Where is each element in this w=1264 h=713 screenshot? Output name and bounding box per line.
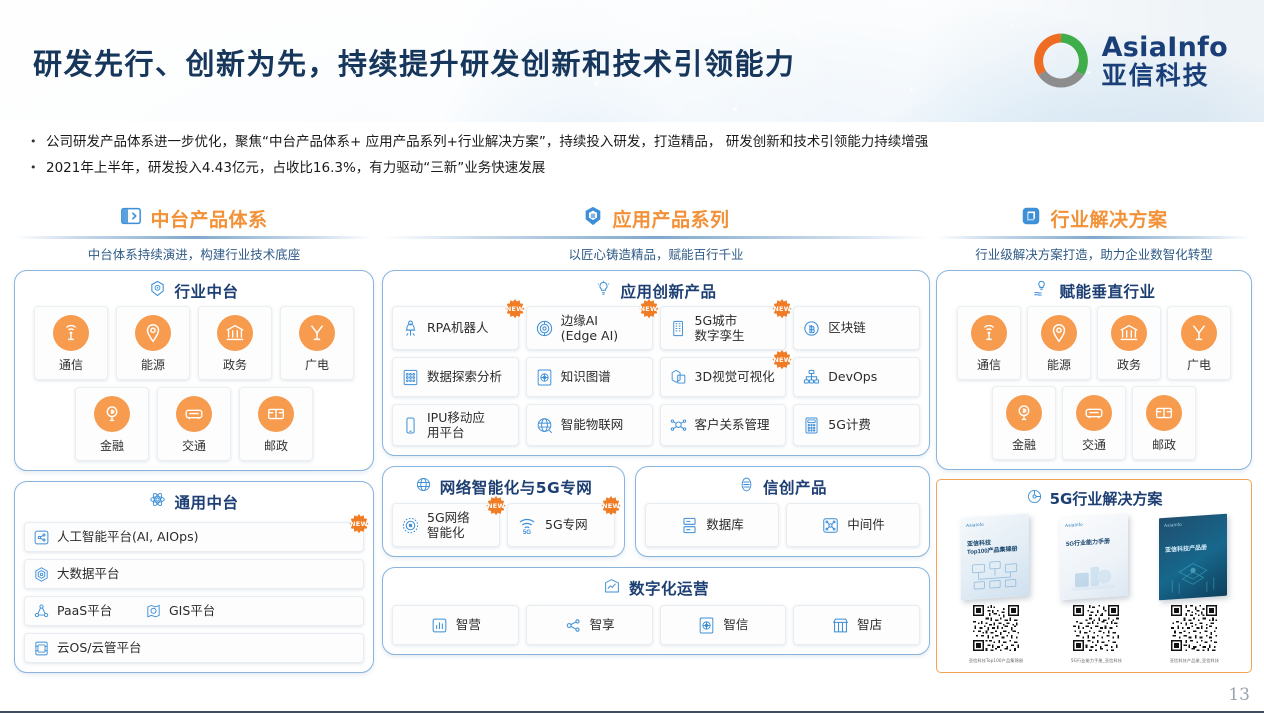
brochure-thumbnail: AsiaInfo 亚信科技 Top100产品集锦册	[961, 514, 1029, 601]
product-label: 中间件	[847, 517, 885, 532]
money-icon	[1006, 395, 1042, 431]
panel-digital-operations: 数字化运营 智营 智享 智信 智店	[382, 567, 930, 655]
platform-label: 云OS/云管平台	[57, 640, 142, 655]
product-tile[interactable]: 3D视觉可视化 NEW	[660, 357, 787, 397]
panel-header: 5G行业解决方案	[945, 486, 1243, 510]
product-tile[interactable]: 智信	[660, 605, 787, 645]
industry-row-1: 通信 能源 政务 广电	[24, 306, 364, 380]
new-badge: NEW	[600, 496, 622, 518]
industry-label: 政务	[199, 356, 271, 373]
product-tile[interactable]: DevOps	[793, 357, 920, 397]
new-badge: NEW	[638, 299, 660, 321]
product-tile[interactable]: IPU移动应 用平台	[392, 404, 519, 446]
panel-title-text: 通用中台	[174, 491, 238, 513]
industry-label: 交通	[158, 437, 230, 454]
product-label: 智享	[590, 617, 615, 632]
product-label: 客户关系管理	[695, 417, 770, 432]
mobile-icon	[401, 416, 420, 435]
bitcoin-icon	[802, 319, 821, 338]
car-icon	[176, 396, 212, 432]
product-tile[interactable]: 区块链	[793, 306, 920, 350]
bullet-item: • 公司研发产品体系进一步优化，聚焦“中台产品体系+ 应用产品系列+行业解决方案…	[30, 134, 1245, 151]
wifi-5g-icon: 5G	[516, 515, 538, 535]
new-badge-text: NEW	[487, 503, 505, 511]
column-middle-platform: 中台产品体系 中台体系持续演进，构建行业技术底座 行业中台 通信 能源 政务	[14, 204, 374, 673]
building-icon	[669, 319, 688, 338]
product-label: IPU移动应 用平台	[427, 410, 485, 441]
brochure-brand: AsiaInfo	[966, 522, 984, 528]
product-label: 3D视觉可视化	[695, 369, 775, 384]
product-tile[interactable]: 数据库	[645, 503, 779, 547]
column-title: 应用产品系列	[612, 205, 729, 232]
industry-tile[interactable]: 通信	[957, 306, 1021, 380]
mailbox-icon	[258, 396, 294, 432]
layers-square-icon	[1020, 205, 1042, 232]
industry-tile[interactable]: 广电	[1167, 306, 1231, 380]
platform-label: 人工智能平台(AI, AIOps)	[57, 529, 198, 544]
panel-header: 信创产品	[645, 474, 920, 500]
product-label: 边缘AI (Edge AI)	[561, 313, 618, 344]
qr-code-icon	[1073, 605, 1119, 651]
edge-ai-icon	[535, 319, 554, 338]
panel-title-text: 数字化运营	[629, 577, 709, 599]
broadcast-icon	[1181, 315, 1217, 351]
platform-label: PaaS平台	[57, 603, 145, 618]
industry-label: 交通	[1063, 436, 1125, 453]
product-tile[interactable]: 5G 5G专网 NEW	[507, 503, 615, 547]
industry-tile[interactable]: 通信	[34, 306, 108, 380]
bullet-list: • 公司研发产品体系进一步优化，聚焦“中台产品体系+ 应用产品系列+行业解决方案…	[30, 134, 1245, 186]
new-badge-text: NEW	[350, 521, 368, 529]
platform-label: 大数据平台	[57, 566, 120, 581]
brochure-title: 亚信科技 Top100产品集锦册	[967, 538, 1023, 558]
broadcast-icon	[299, 315, 335, 351]
industry-label: 广电	[1168, 356, 1230, 373]
column-subtitle: 中台体系持续演进，构建行业技术底座	[14, 244, 374, 263]
5g-disc-icon	[1026, 488, 1043, 509]
bank-icon	[1111, 315, 1147, 351]
car-icon	[1076, 395, 1112, 431]
panel-title-text: 信创产品	[763, 476, 827, 498]
brochure-brand: AsiaInfo	[1164, 522, 1182, 528]
column-title: 中台产品体系	[150, 205, 267, 232]
page-number: 13	[1228, 685, 1250, 705]
industry-tile[interactable]: 能源	[1027, 306, 1091, 380]
industry-tile[interactable]: 能源	[116, 306, 190, 380]
globe-iot-icon	[535, 416, 554, 435]
qr-cell: 亚信科技产品册_亚信科技	[1170, 605, 1219, 664]
column-subtitle: 以匠心铸造精品，赋能百行千业	[382, 244, 930, 263]
brochure-thumbnail: AsiaInfo 5G行业能力手册	[1060, 514, 1128, 601]
bullet-text: 2021年上半年，研发投入4.43亿元，占收比16.3%，有力驱动“三新”业务快…	[46, 160, 545, 177]
industry-label: 金融	[993, 436, 1055, 453]
innovation-grid: RPA机器人 NEW 边缘AI (Edge AI) NEW 5G城市 数字孪生 …	[392, 306, 920, 446]
product-tile[interactable]: 5G网络 智能化 NEW	[392, 503, 500, 547]
share-nodes-icon	[564, 616, 583, 635]
column-header: 中台产品体系	[14, 204, 374, 232]
hexagon-layers-icon	[33, 566, 50, 583]
store-icon	[831, 616, 850, 635]
calculator-icon	[802, 416, 821, 435]
lightbulb-icon	[595, 280, 612, 302]
robot-icon	[401, 319, 420, 338]
bullet-text: 公司研发产品体系进一步优化，聚焦“中台产品体系+ 应用产品系列+行业解决方案”，…	[46, 134, 928, 151]
product-label: 智信	[723, 617, 748, 632]
platform-tile-paas-gis[interactable]: PaaS平台 GIS平台	[24, 596, 364, 626]
industry-tile[interactable]: 金融	[992, 386, 1056, 460]
industry-label: 邮政	[240, 437, 312, 454]
panel-title-text: 赋能垂直行业	[1059, 280, 1155, 302]
brochure-row: AsiaInfo 亚信科技 Top100产品集锦册 AsiaInfo 5G行业能…	[945, 514, 1243, 598]
product-label: 5G专网	[545, 517, 588, 532]
globe-grid-icon	[415, 476, 432, 498]
new-badge: NEW	[504, 299, 526, 321]
share-nodes-icon	[33, 529, 50, 546]
industry-tile[interactable]: 交通	[157, 387, 231, 461]
product-label: 智营	[456, 617, 481, 632]
panel-general-platform: 通用中台 人工智能平台(AI, AIOps) NEW 大数据平台 PaaS平台 …	[14, 481, 374, 673]
map-globe-icon	[145, 603, 162, 620]
hierarchy-icon	[802, 368, 821, 387]
panel-title-text: 5G行业解决方案	[1050, 488, 1163, 509]
product-tile[interactable]: 智享	[526, 605, 653, 645]
qr-cell: 亚信科技Top100产品集锦册	[969, 605, 1023, 664]
product-tile[interactable]: 知识图谱	[526, 357, 653, 397]
industry-row-1: 通信 能源 政务 广电	[946, 306, 1242, 380]
industry-label: 政务	[1098, 356, 1160, 373]
svg-text:5G: 5G	[523, 529, 531, 535]
product-tile[interactable]: 5G城市 数字孪生 NEW	[660, 306, 787, 350]
qr-caption: 亚信科技Top100产品集锦册	[969, 658, 1023, 664]
panel-xinchuang: 信创产品 数据库 中间件	[635, 466, 930, 557]
bank-icon	[217, 315, 253, 351]
new-badge-text: NEW	[506, 306, 524, 314]
chart-trend-icon	[603, 577, 621, 600]
bar-chart-icon	[430, 616, 449, 635]
product-label: 智店	[857, 617, 882, 632]
knowledge-graph-icon	[535, 368, 554, 387]
industry-label: 金融	[76, 437, 148, 454]
panel-network-5g: 网络智能化与5G专网 5G网络 智能化 NEW 5G 5G专网 NEW	[382, 466, 625, 557]
header-divider	[14, 236, 374, 239]
product-tile[interactable]: 边缘AI (Edge AI) NEW	[526, 306, 653, 350]
cube-network-icon	[33, 603, 50, 620]
product-label: 数据探索分析	[427, 369, 502, 384]
crm-network-icon	[669, 416, 688, 435]
panel-header: 行业中台	[24, 278, 364, 304]
product-tile[interactable]: 数据探索分析	[392, 357, 519, 397]
industry-row-2: 金融 交通 邮政	[946, 386, 1242, 460]
qr-caption: 5G行业能力手册_亚信科技	[1071, 658, 1122, 664]
product-tile[interactable]: RPA机器人 NEW	[392, 306, 519, 350]
mailbox-icon	[1146, 395, 1182, 431]
industry-row-2: 金融 交通 邮政	[24, 387, 364, 461]
page-title: 研发先行、创新为先，持续提升研发创新和技术引领能力	[33, 41, 796, 83]
panel-vertical-industries: 赋能垂直行业 通信 能源 政务 广电 金融	[936, 270, 1252, 470]
product-label: 智能物联网	[561, 417, 624, 432]
qr-code-icon	[973, 605, 1019, 651]
new-badge-text: NEW	[640, 306, 658, 314]
brochure-thumbnail: AsiaInfo 亚信科技产品册	[1159, 514, 1227, 601]
data-dots-icon	[401, 368, 420, 387]
brochure-title: 亚信科技产品册	[1165, 544, 1221, 556]
new-badge-text: NEW	[773, 357, 791, 365]
industry-label: 能源	[1028, 356, 1090, 373]
product-tile[interactable]: 智店	[793, 605, 920, 645]
header-divider	[936, 236, 1252, 239]
industry-label: 通信	[958, 356, 1020, 373]
new-badge: NEW	[485, 496, 507, 518]
general-platform-rows: 人工智能平台(AI, AIOps) NEW 大数据平台 PaaS平台 GIS平台…	[24, 522, 364, 663]
platform-tile-bigdata[interactable]: 大数据平台	[24, 559, 364, 589]
column-industry-solutions: 行业解决方案 行业级解决方案打造，助力企业数智化转型 赋能垂直行业 通信 能源 …	[936, 204, 1252, 673]
new-badge: NEW	[771, 350, 793, 372]
product-label: 知识图谱	[561, 369, 611, 384]
product-label: 5G计费	[828, 417, 871, 432]
panel-title-text: 应用创新产品	[620, 280, 716, 302]
platform-label: GIS平台	[169, 603, 215, 618]
location-pin-icon	[135, 315, 171, 351]
column-application-products: 应用产品系列 以匠心铸造精品，赋能百行千业 应用创新产品 RPA机器人 NEW …	[382, 204, 930, 655]
cube-box-icon	[582, 205, 604, 232]
document-lines-icon	[738, 476, 755, 498]
product-tile[interactable]: 5G计费	[793, 404, 920, 446]
product-label: DevOps	[828, 369, 877, 384]
brochure-brand: AsiaInfo	[1065, 522, 1083, 528]
panel-title-text: 网络智能化与5G专网	[440, 476, 593, 498]
industry-label: 通信	[35, 356, 107, 373]
panel-industry-platform: 行业中台 通信 能源 政务 广电 金融	[14, 270, 374, 471]
bullet-marker: •	[30, 134, 46, 149]
product-tile[interactable]: 客户关系管理	[660, 404, 787, 446]
bullet-item: • 2021年上半年，研发投入4.43亿元，占收比16.3%，有力驱动“三新”业…	[30, 160, 1245, 177]
qr-caption: 亚信科技产品册_亚信科技	[1170, 658, 1219, 664]
new-badge: NEW	[348, 514, 370, 536]
product-tile[interactable]: 智营	[392, 605, 519, 645]
product-tile[interactable]: 智能物联网	[526, 404, 653, 446]
platform-tile-ai[interactable]: 人工智能平台(AI, AIOps) NEW	[24, 522, 364, 552]
industry-tile[interactable]: 邮政	[1132, 386, 1196, 460]
product-label: 数据库	[706, 517, 744, 532]
server-stack-icon	[33, 640, 50, 657]
database-icon	[680, 516, 699, 535]
panel-5g-solutions: 5G行业解决方案 AsiaInfo 亚信科技 Top100产品集锦册 AsiaI…	[936, 479, 1252, 673]
column-header: 应用产品系列	[382, 204, 930, 232]
industry-tile[interactable]: 金融	[75, 387, 149, 461]
money-icon	[94, 396, 130, 432]
industry-label: 广电	[281, 356, 353, 373]
shield-hex-icon	[149, 280, 166, 302]
qr-code-icon	[1171, 605, 1217, 651]
bullet-marker: •	[30, 160, 46, 175]
qr-cell: 5G行业能力手册_亚信科技	[1071, 605, 1122, 664]
target-ring-icon	[401, 516, 420, 535]
industry-tile[interactable]: 政务	[1097, 306, 1161, 380]
industry-label: 能源	[117, 356, 189, 373]
industry-label: 邮政	[1133, 436, 1195, 453]
signal-tower-icon	[971, 315, 1007, 351]
list-panel-icon	[120, 205, 142, 232]
header-divider	[382, 236, 930, 239]
industry-tile[interactable]: 交通	[1062, 386, 1126, 460]
product-tile[interactable]: 中间件	[786, 503, 920, 547]
industry-tile[interactable]: 广电	[280, 306, 354, 380]
3d-view-icon	[669, 368, 688, 387]
panel-title-text: 行业中台	[174, 280, 238, 302]
panel-innovation-products: 应用创新产品 RPA机器人 NEW 边缘AI (Edge AI) NEW 5G城…	[382, 270, 930, 456]
knowledge-graph-icon	[697, 616, 716, 635]
middleware-icon	[821, 516, 840, 535]
location-pin-icon	[1041, 315, 1077, 351]
asiainfo-logo: AsiaInfo 亚信科技	[1030, 30, 1228, 92]
qr-row: 亚信科技Top100产品集锦册	[945, 605, 1243, 664]
column-subtitle: 行业级解决方案打造，助力企业数智化转型	[936, 244, 1252, 263]
product-label: 区块链	[828, 320, 866, 335]
new-badge-text: NEW	[773, 306, 791, 314]
product-label: 5G城市 数字孪生	[695, 313, 745, 344]
industry-tile[interactable]: 政务	[198, 306, 272, 380]
panel-header: 赋能垂直行业	[946, 278, 1242, 304]
hand-bulb-icon	[1032, 279, 1051, 303]
signal-tower-icon	[53, 315, 89, 351]
product-label: RPA机器人	[427, 320, 488, 335]
column-header: 行业解决方案	[936, 204, 1252, 232]
new-badge: NEW	[771, 299, 793, 321]
atom-icon	[149, 491, 166, 513]
logo-text-en: AsiaInfo	[1102, 34, 1228, 61]
slide-header: 研发先行、创新为先，持续提升研发创新和技术引领能力 AsiaInfo 亚信科技	[0, 0, 1264, 122]
platform-tile-cloudos[interactable]: 云OS/云管平台	[24, 633, 364, 663]
brochure-title: 5G行业能力手册	[1066, 538, 1122, 550]
panel-header: 通用中台	[24, 489, 364, 515]
new-badge-text: NEW	[602, 503, 620, 511]
column-title: 行业解决方案	[1050, 205, 1167, 232]
industry-tile[interactable]: 邮政	[239, 387, 313, 461]
logo-text-cn: 亚信科技	[1102, 63, 1228, 88]
panel-header: 数字化运营	[392, 575, 920, 601]
logo-ring-icon	[1030, 30, 1092, 92]
product-label: 5G网络 智能化	[427, 510, 470, 541]
